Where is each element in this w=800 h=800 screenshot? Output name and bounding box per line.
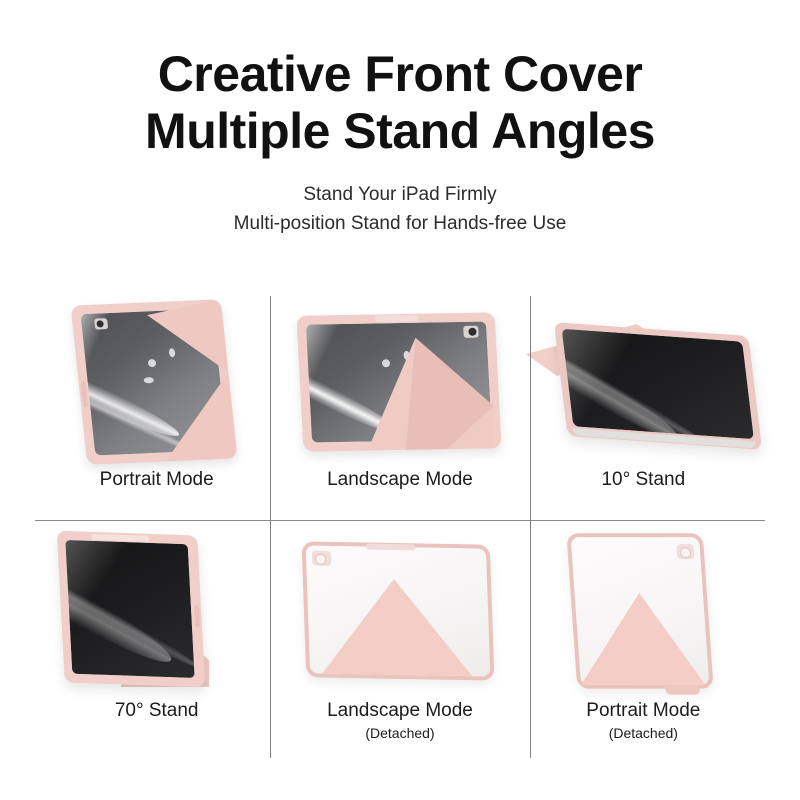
page-title-line-1: Creative Front Cover (158, 46, 643, 102)
camera-module-icon (94, 318, 108, 330)
cell-caption-text: Portrait Mode (100, 469, 214, 490)
camera-module-icon (463, 326, 479, 338)
portrait-detached-case-illustration (522, 527, 765, 695)
cell-caption: Landscape Mode (327, 468, 473, 492)
cell-caption-text: Landscape Mode (327, 700, 473, 721)
cell-caption-detail: (Detached) (327, 724, 473, 743)
subtitle-block: Stand Your iPad Firmly Multi-position St… (0, 180, 800, 238)
ten-degree-stand-case-illustration (522, 296, 765, 464)
grid-cell-landscape-detached: Landscape Mode (Detached) (278, 527, 521, 758)
cell-caption-detail: (Detached) (586, 724, 700, 743)
grid-cell-portrait-detached: Portrait Mode (Detached) (522, 527, 765, 758)
cell-caption: Portrait Mode (100, 468, 214, 492)
grid-cell-portrait-mode: Portrait Mode (35, 296, 278, 527)
cell-caption-text: Portrait Mode (586, 700, 700, 721)
header: Creative Front Cover Multiple Stand Angl… (0, 0, 800, 238)
cell-caption-text: 70° Stand (115, 700, 199, 721)
cell-caption: 70° Stand (115, 699, 199, 723)
page-title-line-2: Multiple Stand Angles (145, 103, 655, 159)
subtitle-line-2: Multi-position Stand for Hands-free Use (0, 209, 800, 238)
feature-grid: Portrait Mode (35, 296, 765, 758)
cell-caption: Landscape Mode (Detached) (327, 699, 473, 743)
landscape-mode-case-illustration (278, 296, 521, 464)
grid-cell-ten-degree-stand: 10° Stand (522, 296, 765, 527)
grid-cell-landscape-mode: Landscape Mode (278, 296, 521, 527)
landscape-detached-case-illustration (278, 527, 521, 695)
camera-cutout-icon (312, 551, 332, 566)
cell-caption: Portrait Mode (Detached) (586, 699, 700, 743)
seventy-degree-stand-case-illustration (35, 527, 278, 695)
cell-caption: 10° Stand (601, 468, 685, 492)
subtitle-line-1: Stand Your iPad Firmly (0, 180, 800, 209)
grid-cell-seventy-degree-stand: 70° Stand (35, 527, 278, 758)
portrait-mode-case-illustration (35, 296, 278, 464)
cell-caption-text: Landscape Mode (327, 469, 473, 490)
page-title: Creative Front Cover Multiple Stand Angl… (0, 46, 800, 160)
cell-caption-text: 10° Stand (601, 469, 685, 490)
camera-cutout-icon (676, 544, 694, 559)
